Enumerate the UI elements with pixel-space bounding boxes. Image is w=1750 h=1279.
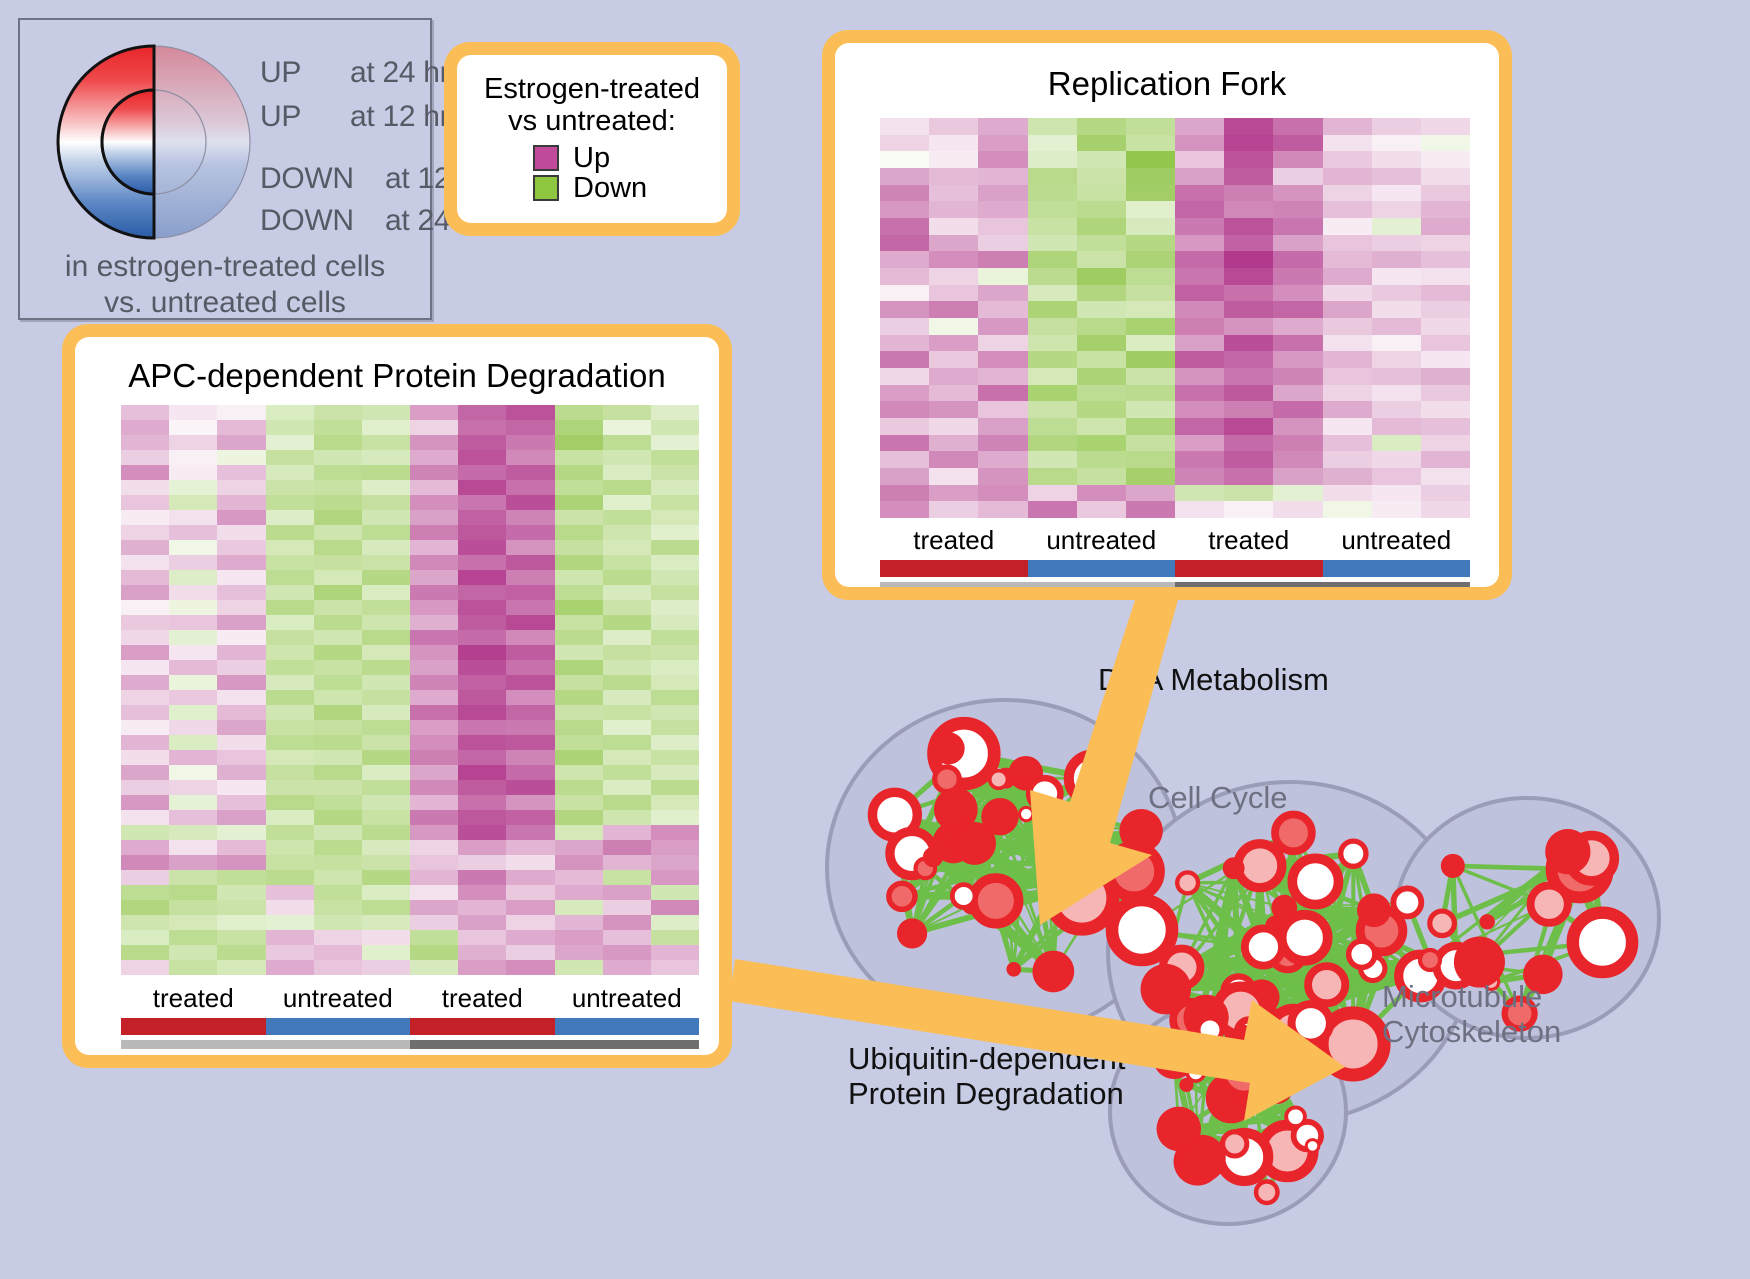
heat-cell: [978, 268, 1027, 285]
heat-cell: [121, 735, 169, 750]
network-node: [1256, 1182, 1277, 1203]
heat-cell: [880, 235, 929, 252]
heat-cell: [121, 510, 169, 525]
heat-cell: [1224, 268, 1273, 285]
heat-cell: [458, 420, 506, 435]
heat-cell: [1028, 135, 1077, 152]
heat-cell: [1224, 368, 1273, 385]
heat-cell: [169, 645, 217, 660]
heat-cell: [1077, 451, 1126, 468]
heat-cell: [929, 335, 978, 352]
heat-cell: [169, 900, 217, 915]
heat-cell: [314, 630, 362, 645]
heat-cell: [1077, 285, 1126, 302]
heat-cell: [362, 600, 410, 615]
heat-cell: [169, 450, 217, 465]
heat-cell: [603, 525, 651, 540]
heat-cell: [314, 825, 362, 840]
heat-cell: [169, 885, 217, 900]
heat-cell: [1175, 201, 1224, 218]
heat-cell: [929, 501, 978, 518]
cluster-label-cell-cycle: Cell Cycle: [1148, 780, 1288, 816]
heat-cell: [506, 660, 554, 675]
heat-cell: [1126, 135, 1175, 152]
heat-cell: [169, 930, 217, 945]
heat-cell: [555, 750, 603, 765]
heat-cell: [1077, 468, 1126, 485]
heat-cell: [217, 810, 265, 825]
heat-cell: [1273, 401, 1322, 418]
heat-cell: [1126, 351, 1175, 368]
heat-cell: [555, 840, 603, 855]
cluster-label-dna-metabolism: DNA Metabolism: [1098, 662, 1329, 698]
heat-cell: [266, 960, 314, 975]
heat-cell: [1077, 485, 1126, 502]
heat-cell: [929, 318, 978, 335]
heat-cell: [169, 690, 217, 705]
heat-cell: [266, 720, 314, 735]
heat-cell: [410, 450, 458, 465]
network-node: [1480, 914, 1495, 929]
heat-cell: [314, 855, 362, 870]
rf-bar-3: [1323, 560, 1471, 577]
heat-cell: [1323, 268, 1372, 285]
heat-cell: [1077, 168, 1126, 185]
heat-cell: [603, 735, 651, 750]
heat-cell: [266, 825, 314, 840]
heat-cell: [314, 885, 362, 900]
heat-cell: [1421, 301, 1470, 318]
heat-cell: [603, 645, 651, 660]
heat-cell: [362, 705, 410, 720]
heat-cell: [1372, 301, 1421, 318]
heat-cell: [555, 480, 603, 495]
heat-cell: [217, 885, 265, 900]
heat-cell: [506, 690, 554, 705]
heat-cell: [458, 525, 506, 540]
heat-cell: [978, 468, 1027, 485]
heat-cell: [121, 885, 169, 900]
heat-cell: [410, 615, 458, 630]
apc-time-bar-1: [410, 1040, 699, 1049]
heat-cell: [217, 825, 265, 840]
heat-cell: [458, 570, 506, 585]
apc-time-0: 12 hrs: [121, 1054, 410, 1055]
heat-cell: [314, 675, 362, 690]
heat-cell: [169, 765, 217, 780]
heat-cell: [266, 510, 314, 525]
heat-cell: [266, 660, 314, 675]
rf-label-0: treated: [880, 525, 1028, 556]
heat-cell: [169, 735, 217, 750]
apc-treatment-bar: [121, 1018, 699, 1035]
heat-cell: [121, 825, 169, 840]
heat-cell: [651, 930, 699, 945]
heat-cell: [929, 468, 978, 485]
heat-cell: [651, 570, 699, 585]
heat-cell: [121, 840, 169, 855]
heat-cell: [651, 675, 699, 690]
heat-cell: [1372, 251, 1421, 268]
heat-cell: [362, 555, 410, 570]
heat-cell: [217, 945, 265, 960]
heat-cell: [603, 555, 651, 570]
heat-cell: [1323, 318, 1372, 335]
heat-cell: [458, 690, 506, 705]
heat-cell: [555, 420, 603, 435]
heat-cell: [410, 750, 458, 765]
heat-cell: [1175, 418, 1224, 435]
heat-cell: [603, 675, 651, 690]
heat-cell: [978, 451, 1027, 468]
heat-cell: [362, 630, 410, 645]
rf-label-2: treated: [1175, 525, 1323, 556]
heat-cell: [506, 735, 554, 750]
heat-cell: [1372, 185, 1421, 202]
heat-cell: [458, 480, 506, 495]
heat-cell: [978, 135, 1027, 152]
heat-cell: [1421, 235, 1470, 252]
heat-cell: [1028, 235, 1077, 252]
heat-cell: [410, 630, 458, 645]
heat-cell: [314, 690, 362, 705]
heat-cell: [1175, 435, 1224, 452]
heat-cell: [1323, 435, 1372, 452]
heat-cell: [1323, 185, 1372, 202]
heat-cell: [555, 435, 603, 450]
heat-cell: [555, 555, 603, 570]
heat-cell: [1323, 451, 1372, 468]
heat-cell: [314, 540, 362, 555]
heat-cell: [1077, 135, 1126, 152]
heat-cell: [978, 218, 1027, 235]
heat-cell: [217, 420, 265, 435]
heat-cell: [1372, 318, 1421, 335]
heat-cell: [1323, 468, 1372, 485]
heat-cell: [1323, 385, 1372, 402]
network-node: [1029, 778, 1060, 809]
rf-label-3: untreated: [1323, 525, 1471, 556]
heat-cell: [1372, 135, 1421, 152]
heat-cell: [506, 405, 554, 420]
heat-cell: [217, 855, 265, 870]
heat-cell: [555, 885, 603, 900]
heat-cell: [555, 855, 603, 870]
heat-cell: [217, 450, 265, 465]
heat-cell: [1323, 135, 1372, 152]
heat-cell: [651, 615, 699, 630]
cmap-label-up12: UP: [260, 100, 301, 134]
heat-cell: [1323, 118, 1372, 135]
heat-cell: [929, 235, 978, 252]
network-node: [1006, 962, 1021, 977]
heat-cell: [121, 930, 169, 945]
heat-cell: [978, 151, 1027, 168]
heat-cell: [1421, 118, 1470, 135]
heat-cell: [1323, 235, 1372, 252]
heat-cell: [506, 870, 554, 885]
heat-cell: [1077, 351, 1126, 368]
heat-cell: [362, 585, 410, 600]
heat-cell: [929, 301, 978, 318]
legend-swatch-up-icon: [533, 145, 559, 171]
heat-cell: [1175, 451, 1224, 468]
heat-cell: [603, 810, 651, 825]
heat-cell: [978, 351, 1027, 368]
cluster-label-microtubule: Microtubule Cytoskeleton: [1382, 980, 1561, 1049]
heat-cell: [121, 795, 169, 810]
heat-cell: [1224, 385, 1273, 402]
heat-cell: [362, 735, 410, 750]
updown-legend-panel: Estrogen-treated vs untreated: Up Down: [444, 42, 740, 236]
heat-cell: [929, 185, 978, 202]
heat-cell: [458, 435, 506, 450]
replication-fork-column-annotations: treated untreated treated untreated 12 h…: [880, 525, 1470, 587]
heat-cell: [978, 501, 1027, 518]
heat-cell: [1126, 268, 1175, 285]
legend-label-down: Down: [573, 174, 647, 203]
heat-cell: [266, 750, 314, 765]
heat-cell: [1028, 451, 1077, 468]
apc-label-3: untreated: [555, 983, 700, 1014]
network-node: [1032, 951, 1074, 993]
heat-cell: [880, 201, 929, 218]
heat-cell: [1224, 485, 1273, 502]
heat-cell: [1323, 251, 1372, 268]
heat-cell: [1421, 401, 1470, 418]
heat-cell: [217, 930, 265, 945]
heat-cell: [217, 525, 265, 540]
heat-cell: [1421, 368, 1470, 385]
heat-cell: [1372, 501, 1421, 518]
heat-cell: [410, 840, 458, 855]
heat-cell: [506, 765, 554, 780]
heat-cell: [410, 495, 458, 510]
heat-cell: [880, 318, 929, 335]
heat-cell: [651, 870, 699, 885]
heat-cell: [410, 945, 458, 960]
heat-cell: [1273, 168, 1322, 185]
rf-time-bar-0: [880, 582, 1175, 587]
heat-cell: [555, 510, 603, 525]
heat-cell: [266, 840, 314, 855]
heat-cell: [1028, 468, 1077, 485]
heat-cell: [1077, 435, 1126, 452]
heat-cell: [1224, 335, 1273, 352]
heat-cell: [1273, 451, 1322, 468]
heat-cell: [1028, 318, 1077, 335]
heat-cell: [266, 855, 314, 870]
heat-cell: [651, 810, 699, 825]
heat-cell: [458, 720, 506, 735]
heat-cell: [555, 720, 603, 735]
heat-cell: [266, 645, 314, 660]
heat-cell: [555, 675, 603, 690]
heat-cell: [362, 795, 410, 810]
heat-cell: [1077, 318, 1126, 335]
heat-cell: [1273, 418, 1322, 435]
heat-cell: [1126, 501, 1175, 518]
heat-cell: [1273, 485, 1322, 502]
heat-cell: [555, 630, 603, 645]
heat-cell: [651, 525, 699, 540]
legend-label-up: Up: [573, 144, 610, 173]
heat-cell: [410, 810, 458, 825]
heat-cell: [880, 135, 929, 152]
heat-cell: [555, 405, 603, 420]
heat-cell: [880, 301, 929, 318]
heat-cell: [1421, 468, 1470, 485]
heat-cell: [506, 960, 554, 975]
heat-cell: [880, 151, 929, 168]
heat-cell: [1273, 301, 1322, 318]
heat-cell: [555, 600, 603, 615]
heat-cell: [169, 810, 217, 825]
heat-cell: [169, 660, 217, 675]
heat-cell: [880, 185, 929, 202]
heat-cell: [458, 630, 506, 645]
heat-cell: [266, 465, 314, 480]
heat-cell: [217, 720, 265, 735]
heat-cell: [929, 401, 978, 418]
heat-cell: [314, 735, 362, 750]
network-node: [973, 878, 1019, 924]
network-node: [1341, 841, 1366, 866]
heat-cell: [169, 555, 217, 570]
legend-title-line2: vs untreated:: [457, 105, 727, 137]
heat-cell: [880, 485, 929, 502]
legend-swatch-down-icon: [533, 175, 559, 201]
legend-title-line1: Estrogen-treated: [457, 73, 727, 105]
heat-cell: [266, 525, 314, 540]
heat-cell: [458, 900, 506, 915]
heat-cell: [1372, 368, 1421, 385]
heat-cell: [651, 735, 699, 750]
heat-cell: [362, 855, 410, 870]
apc-bar-0: [121, 1018, 266, 1035]
heat-cell: [217, 780, 265, 795]
heat-cell: [1077, 118, 1126, 135]
heat-cell: [1372, 268, 1421, 285]
heat-cell: [929, 385, 978, 402]
heat-cell: [603, 720, 651, 735]
heat-cell: [1126, 301, 1175, 318]
apc-label-0: treated: [121, 983, 266, 1014]
heat-cell: [929, 201, 978, 218]
heat-cell: [880, 118, 929, 135]
heat-cell: [1323, 418, 1372, 435]
heat-cell: [458, 495, 506, 510]
heat-cell: [929, 118, 978, 135]
heat-cell: [651, 600, 699, 615]
heat-cell: [362, 510, 410, 525]
heat-cell: [929, 168, 978, 185]
heat-cell: [458, 405, 506, 420]
heat-cell: [410, 585, 458, 600]
apc-time-bar: [121, 1040, 699, 1049]
heat-cell: [978, 335, 1027, 352]
heat-cell: [169, 510, 217, 525]
heat-cell: [266, 735, 314, 750]
heat-cell: [458, 540, 506, 555]
heat-cell: [169, 435, 217, 450]
heat-cell: [410, 465, 458, 480]
legend-item-up: Up: [533, 144, 727, 173]
heat-cell: [1175, 301, 1224, 318]
heat-cell: [603, 915, 651, 930]
heat-cell: [506, 495, 554, 510]
heat-cell: [169, 960, 217, 975]
heat-cell: [1372, 118, 1421, 135]
heat-cell: [506, 900, 554, 915]
network-node: [1198, 1018, 1222, 1042]
heat-cell: [880, 168, 929, 185]
heat-cell: [929, 485, 978, 502]
heat-cell: [1175, 151, 1224, 168]
heat-cell: [410, 570, 458, 585]
heat-cell: [1126, 485, 1175, 502]
heat-cell: [651, 750, 699, 765]
heat-cell: [314, 615, 362, 630]
heat-cell: [458, 585, 506, 600]
heat-cell: [651, 780, 699, 795]
heat-cell: [603, 435, 651, 450]
network-node: [1286, 1107, 1305, 1126]
heat-cell: [121, 945, 169, 960]
heat-cell: [555, 495, 603, 510]
heat-cell: [603, 840, 651, 855]
apc-heatmap: [121, 405, 699, 975]
heat-cell: [410, 930, 458, 945]
heat-cell: [266, 900, 314, 915]
heat-cell: [1175, 185, 1224, 202]
heat-cell: [362, 465, 410, 480]
heat-cell: [1273, 468, 1322, 485]
heat-cell: [410, 720, 458, 735]
network-node: [1020, 807, 1033, 820]
heat-cell: [1126, 368, 1175, 385]
legend-items: Up Down: [457, 144, 727, 203]
heat-cell: [314, 585, 362, 600]
heat-cell: [362, 945, 410, 960]
heat-cell: [651, 480, 699, 495]
heat-cell: [1372, 151, 1421, 168]
rf-bar-1: [1028, 560, 1176, 577]
cmap-label-down24: DOWN: [260, 204, 354, 238]
heat-cell: [458, 675, 506, 690]
heat-cell: [1273, 335, 1322, 352]
heat-cell: [1421, 501, 1470, 518]
heat-cell: [266, 630, 314, 645]
apc-time-labels: 12 hrs 24 hrs: [121, 1054, 699, 1055]
heat-cell: [1126, 201, 1175, 218]
rf-treatment-bar: [880, 560, 1470, 577]
heat-cell: [217, 480, 265, 495]
heat-cell: [1126, 385, 1175, 402]
heat-cell: [555, 540, 603, 555]
heat-cell: [1421, 251, 1470, 268]
heat-cell: [314, 435, 362, 450]
heat-cell: [362, 780, 410, 795]
heat-cell: [1126, 235, 1175, 252]
network-node: [1049, 886, 1063, 900]
heat-cell: [555, 525, 603, 540]
heat-cell: [1028, 285, 1077, 302]
heat-cell: [1421, 418, 1470, 435]
heat-cell: [1372, 401, 1421, 418]
heat-cell: [314, 765, 362, 780]
heat-cell: [1323, 335, 1372, 352]
